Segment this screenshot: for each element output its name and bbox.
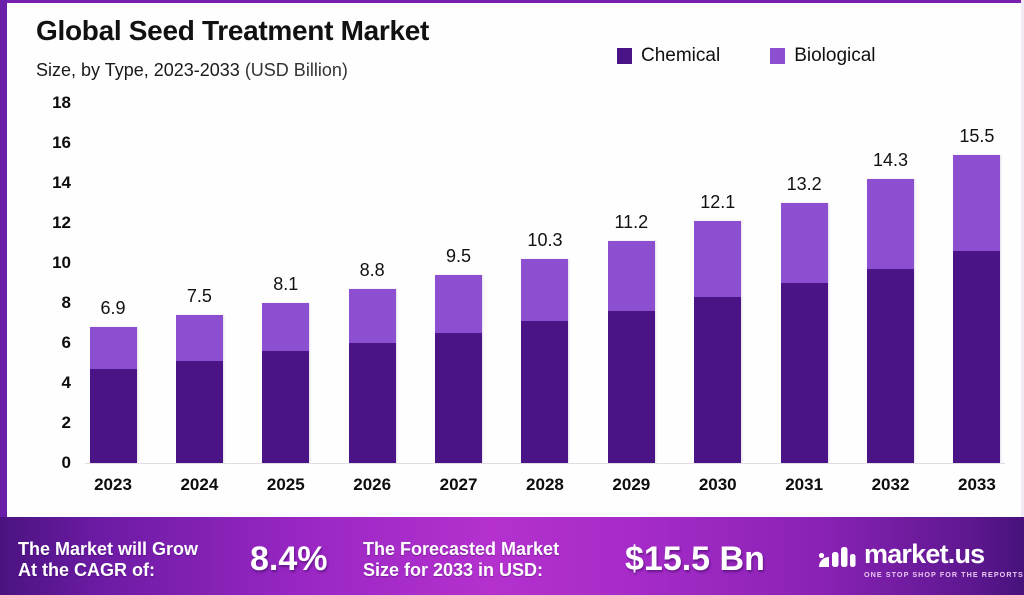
bar-segment-biological[interactable]	[867, 179, 914, 269]
x-axis-tick: 2023	[85, 475, 141, 495]
legend-item-chemical[interactable]: Chemical	[617, 45, 720, 67]
page-title: Global Seed Treatment Market	[36, 15, 429, 47]
bar-group[interactable]: 10.3	[517, 103, 573, 463]
bar-group[interactable]: 6.9	[85, 103, 141, 463]
x-axis-tick: 2024	[171, 475, 227, 495]
bar-stack[interactable]	[176, 315, 223, 463]
x-axis-tick: 2028	[517, 475, 573, 495]
bar-data-label: 9.5	[446, 246, 471, 267]
x-axis-tick: 2031	[776, 475, 832, 495]
x-axis-tick: 2030	[690, 475, 746, 495]
y-axis-tick: 0	[31, 453, 71, 473]
bar-segment-biological[interactable]	[262, 303, 309, 351]
bar-stack[interactable]	[781, 203, 828, 463]
bar-stack[interactable]	[694, 221, 741, 463]
legend-label-biological: Biological	[794, 45, 875, 67]
bar-stack[interactable]	[262, 303, 309, 463]
footer-content: The Market will Grow At the CAGR of: 8.4…	[0, 517, 1024, 595]
bar-group[interactable]: 9.5	[431, 103, 487, 463]
bar-group[interactable]: 14.3	[863, 103, 919, 463]
bar-data-label: 12.1	[700, 192, 735, 213]
bar-stack[interactable]	[521, 259, 568, 463]
bar-segment-biological[interactable]	[521, 259, 568, 321]
bar-stack[interactable]	[867, 179, 914, 463]
bar-segment-biological[interactable]	[349, 289, 396, 343]
logo-tagline: ONE STOP SHOP FOR THE REPORTS	[864, 571, 1024, 578]
bar-stack[interactable]	[349, 289, 396, 463]
bar-group[interactable]: 13.2	[776, 103, 832, 463]
bar-segment-biological[interactable]	[953, 155, 1000, 251]
bar-group[interactable]: 15.5	[949, 103, 1005, 463]
bar-data-label: 13.2	[787, 174, 822, 195]
bar-group[interactable]: 12.1	[690, 103, 746, 463]
frame-left-border	[0, 0, 7, 517]
subtitle-main: Size, by Type, 2023-2033	[36, 60, 245, 80]
bar-segment-chemical[interactable]	[349, 343, 396, 463]
bar-group[interactable]: 8.8	[344, 103, 400, 463]
bar-group[interactable]: 7.5	[171, 103, 227, 463]
market-us-logo-text: market.us ONE STOP SHOP FOR THE REPORTS	[864, 541, 1024, 578]
bar-data-label: 6.9	[100, 298, 125, 319]
logo-wordmark: market.us	[864, 541, 1024, 568]
market-us-logo[interactable]: market.us ONE STOP SHOP FOR THE REPORTS	[816, 541, 1024, 578]
chart-infographic: Global Seed Treatment Market Size, by Ty…	[0, 0, 1024, 595]
bar-segment-biological[interactable]	[90, 327, 137, 369]
bar-stack[interactable]	[435, 275, 482, 463]
x-axis-tick: 2033	[949, 475, 1005, 495]
bar-segment-chemical[interactable]	[90, 369, 137, 463]
bar-data-label: 11.2	[614, 212, 648, 233]
cagr-label-line1: The Market will Grow	[18, 539, 198, 560]
bar-segment-chemical[interactable]	[521, 321, 568, 463]
forecast-size-label-line2: Size for 2033 in USD:	[363, 560, 559, 581]
bar-segment-chemical[interactable]	[176, 361, 223, 463]
legend-label-chemical: Chemical	[641, 45, 720, 67]
y-axis-tick: 6	[31, 333, 71, 353]
forecast-size-value: $15.5 Bn	[625, 540, 765, 579]
bar-data-label: 8.1	[273, 274, 298, 295]
x-axis-tick: 2026	[344, 475, 400, 495]
forecast-size-label-line1: The Forecasted Market	[363, 539, 559, 560]
bar-group[interactable]: 11.2	[603, 103, 659, 463]
chart-legend: Chemical Biological	[617, 45, 876, 67]
x-axis-line	[85, 463, 1005, 464]
y-axis-tick: 12	[31, 213, 71, 233]
bar-data-label: 15.5	[959, 126, 994, 147]
market-us-logo-icon	[816, 544, 856, 575]
cagr-label-line2: At the CAGR of:	[18, 560, 198, 581]
bar-stack[interactable]	[953, 155, 1000, 463]
bar-segment-chemical[interactable]	[953, 251, 1000, 463]
bar-segment-biological[interactable]	[608, 241, 655, 311]
bar-data-label: 14.3	[873, 150, 908, 171]
bar-segment-chemical[interactable]	[781, 283, 828, 463]
y-axis-tick: 4	[31, 373, 71, 393]
x-axis-tick: 2025	[258, 475, 314, 495]
y-axis-tick: 2	[31, 413, 71, 433]
bar-segment-biological[interactable]	[694, 221, 741, 297]
legend-square-icon	[770, 48, 785, 64]
forecast-size-label: The Forecasted Market Size for 2033 in U…	[363, 539, 559, 581]
bar-data-label: 8.8	[360, 260, 385, 281]
bar-segment-chemical[interactable]	[262, 351, 309, 463]
x-axis-tick: 2032	[863, 475, 919, 495]
footer-bar: The Market will Grow At the CAGR of: 8.4…	[0, 517, 1024, 595]
bar-stack[interactable]	[90, 327, 137, 463]
y-axis-tick: 8	[31, 293, 71, 313]
bar-data-label: 10.3	[527, 230, 562, 251]
bar-segment-biological[interactable]	[781, 203, 828, 283]
bar-segment-chemical[interactable]	[608, 311, 655, 463]
bar-segment-chemical[interactable]	[435, 333, 482, 463]
bar-stack[interactable]	[608, 241, 655, 463]
subtitle-unit: (USD Billion)	[245, 60, 348, 80]
bar-series-container: 6.97.58.18.89.510.311.212.113.214.315.5	[85, 103, 1005, 463]
bar-group[interactable]: 8.1	[258, 103, 314, 463]
y-axis-labels: 024681012141618	[29, 103, 71, 463]
bar-segment-chemical[interactable]	[694, 297, 741, 463]
y-axis-tick: 10	[31, 253, 71, 273]
y-axis-tick: 16	[31, 133, 71, 153]
legend-square-icon	[617, 48, 632, 64]
cagr-label: The Market will Grow At the CAGR of:	[18, 539, 198, 581]
bar-segment-chemical[interactable]	[867, 269, 914, 463]
cagr-value: 8.4%	[250, 540, 328, 579]
x-axis-tick: 2027	[431, 475, 487, 495]
plot-area: 6.97.58.18.89.510.311.212.113.214.315.5	[85, 103, 1005, 463]
bar-data-label: 7.5	[187, 286, 212, 307]
bar-segment-biological[interactable]	[176, 315, 223, 361]
page-subtitle: Size, by Type, 2023-2033 (USD Billion)	[36, 60, 348, 81]
legend-item-biological[interactable]: Biological	[770, 45, 875, 67]
x-axis-tick: 2029	[603, 475, 659, 495]
x-axis-labels: 2023202420252026202720282029203020312032…	[85, 475, 1005, 495]
chart-card: Global Seed Treatment Market Size, by Ty…	[7, 3, 1021, 517]
y-axis-tick: 14	[31, 173, 71, 193]
bar-segment-biological[interactable]	[435, 275, 482, 333]
y-axis-tick: 18	[31, 93, 71, 113]
